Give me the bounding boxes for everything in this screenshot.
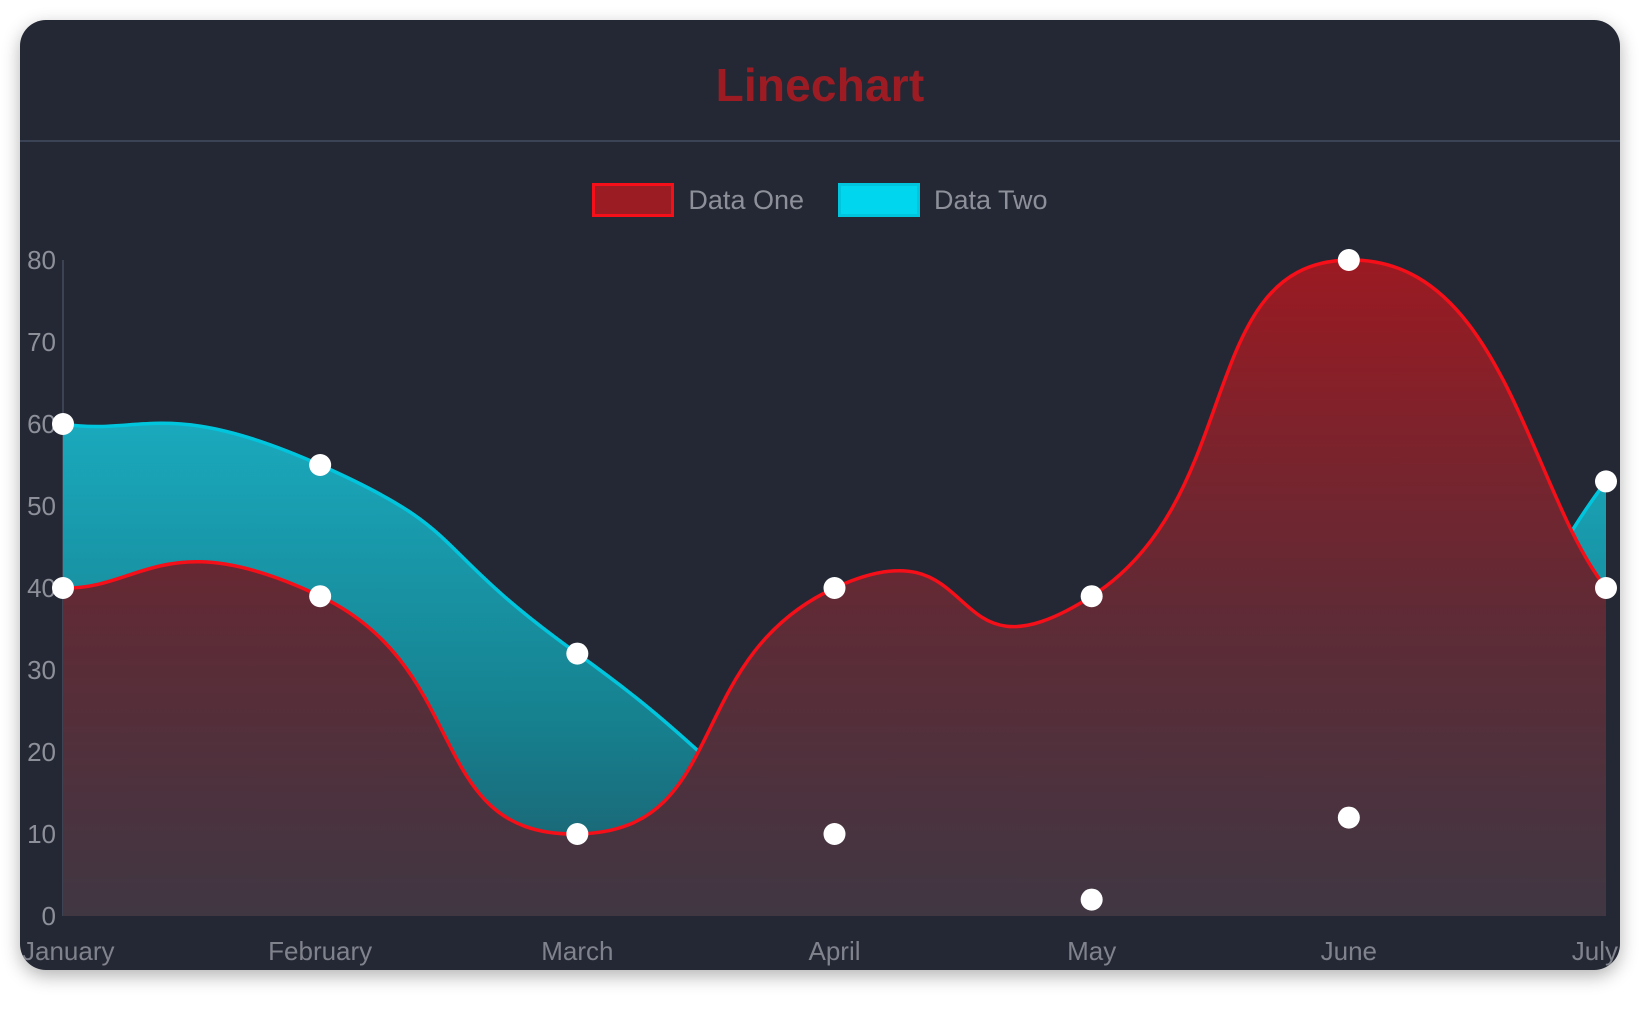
data-point[interactable] [1595,470,1617,492]
data-point[interactable] [1595,577,1617,599]
data-point[interactable] [1081,889,1103,911]
data-point[interactable] [309,585,331,607]
data-point[interactable] [566,823,588,845]
chart-legend: Data One Data Two [20,170,1620,230]
data-point[interactable] [1338,249,1360,271]
plot-area: 01020304050607080 JanuaryFebruaryMarchAp… [20,230,1620,970]
x-tick-labels: JanuaryFebruaryMarchAprilMayJuneJuly [22,936,1618,966]
legend-label-data-one: Data One [688,185,804,216]
y-tick-label: 70 [27,327,56,357]
page-title: Linechart [716,52,925,108]
y-tick-label: 0 [42,901,56,931]
legend-item-data-one[interactable]: Data One [592,183,804,217]
x-tick-label: May [1067,936,1116,966]
data-point[interactable] [1081,585,1103,607]
x-tick-label: March [541,936,613,966]
data-point[interactable] [1338,807,1360,829]
legend-swatch-icon-data-two [838,183,920,217]
legend-label-data-two: Data Two [934,185,1048,216]
x-tick-label: February [268,936,372,966]
data-point[interactable] [52,413,74,435]
data-point[interactable] [824,577,846,599]
data-point[interactable] [566,643,588,665]
data-point[interactable] [309,454,331,476]
x-tick-label: April [808,936,860,966]
x-tick-label: January [22,936,115,966]
y-tick-label: 40 [27,573,56,603]
line-chart-svg: 01020304050607080 JanuaryFebruaryMarchAp… [20,230,1620,970]
legend-item-data-two[interactable]: Data Two [838,183,1048,217]
chart-card: Linechart Data One Data Two [20,20,1620,970]
y-tick-label: 20 [27,737,56,767]
y-tick-label: 30 [27,655,56,685]
legend-swatch-icon-data-one [592,183,674,217]
x-tick-label: June [1321,936,1377,966]
card-header: Linechart [20,20,1620,142]
page-root: Linechart Data One Data Two [0,0,1640,1022]
x-tick-label: July [1572,936,1618,966]
data-point[interactable] [52,577,74,599]
data-point[interactable] [824,823,846,845]
y-tick-label: 10 [27,819,56,849]
y-tick-labels: 01020304050607080 [27,245,56,931]
y-tick-label: 60 [27,409,56,439]
y-tick-label: 80 [27,245,56,275]
y-tick-label: 50 [27,491,56,521]
